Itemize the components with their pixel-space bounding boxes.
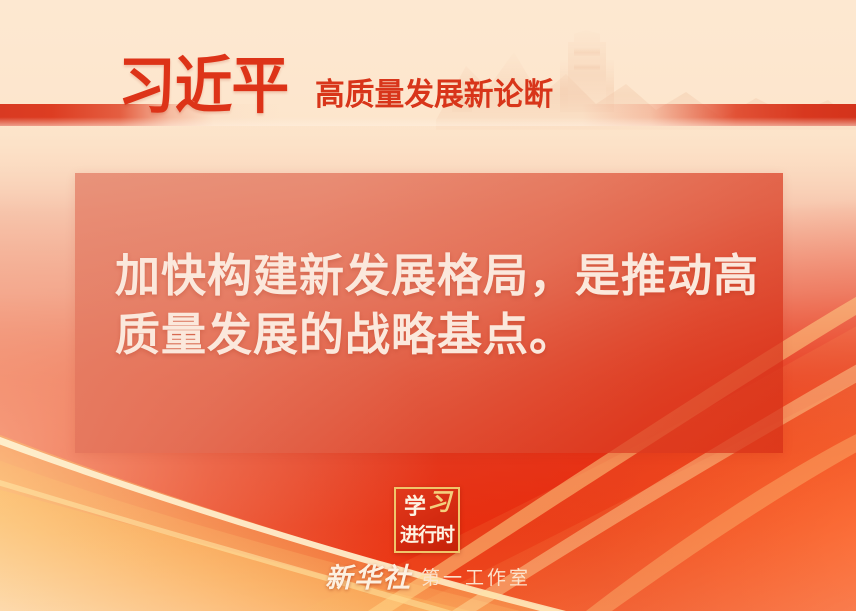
credit-studio: 第一工作室 [421,567,531,589]
poster-canvas: 习近平 高质量发展新论断 加快构建新发展格局，是推动高 质量发展的战略基点。 [0,0,856,611]
page-subtitle: 高质量发展新论断 [315,80,553,117]
logo-line-2: 进行时 [396,526,458,545]
page-title: 习近平 [118,55,288,117]
logo-char-xi: 习 [427,488,451,516]
quote-text-block: 加快构建新发展格局，是推动高 质量发展的战略基点。 [115,247,749,364]
quote-card: 加快构建新发展格局，是推动高 质量发展的战略基点。 [75,173,783,453]
quote-line-1: 加快构建新发展格局，是推动高 [115,247,749,306]
logo-line-1: 学习 [396,494,458,519]
logo-char-xue: 学 [404,495,426,520]
xuexi-jinxingshi-logo: 学习 进行时 [394,487,460,553]
credit-agency: 新华社 [325,563,412,594]
credit-line: 新华社第一工作室 [0,556,856,595]
header-title-group: 习近平 高质量发展新论断 [118,55,563,117]
quote-line-2: 质量发展的战略基点。 [115,306,749,365]
